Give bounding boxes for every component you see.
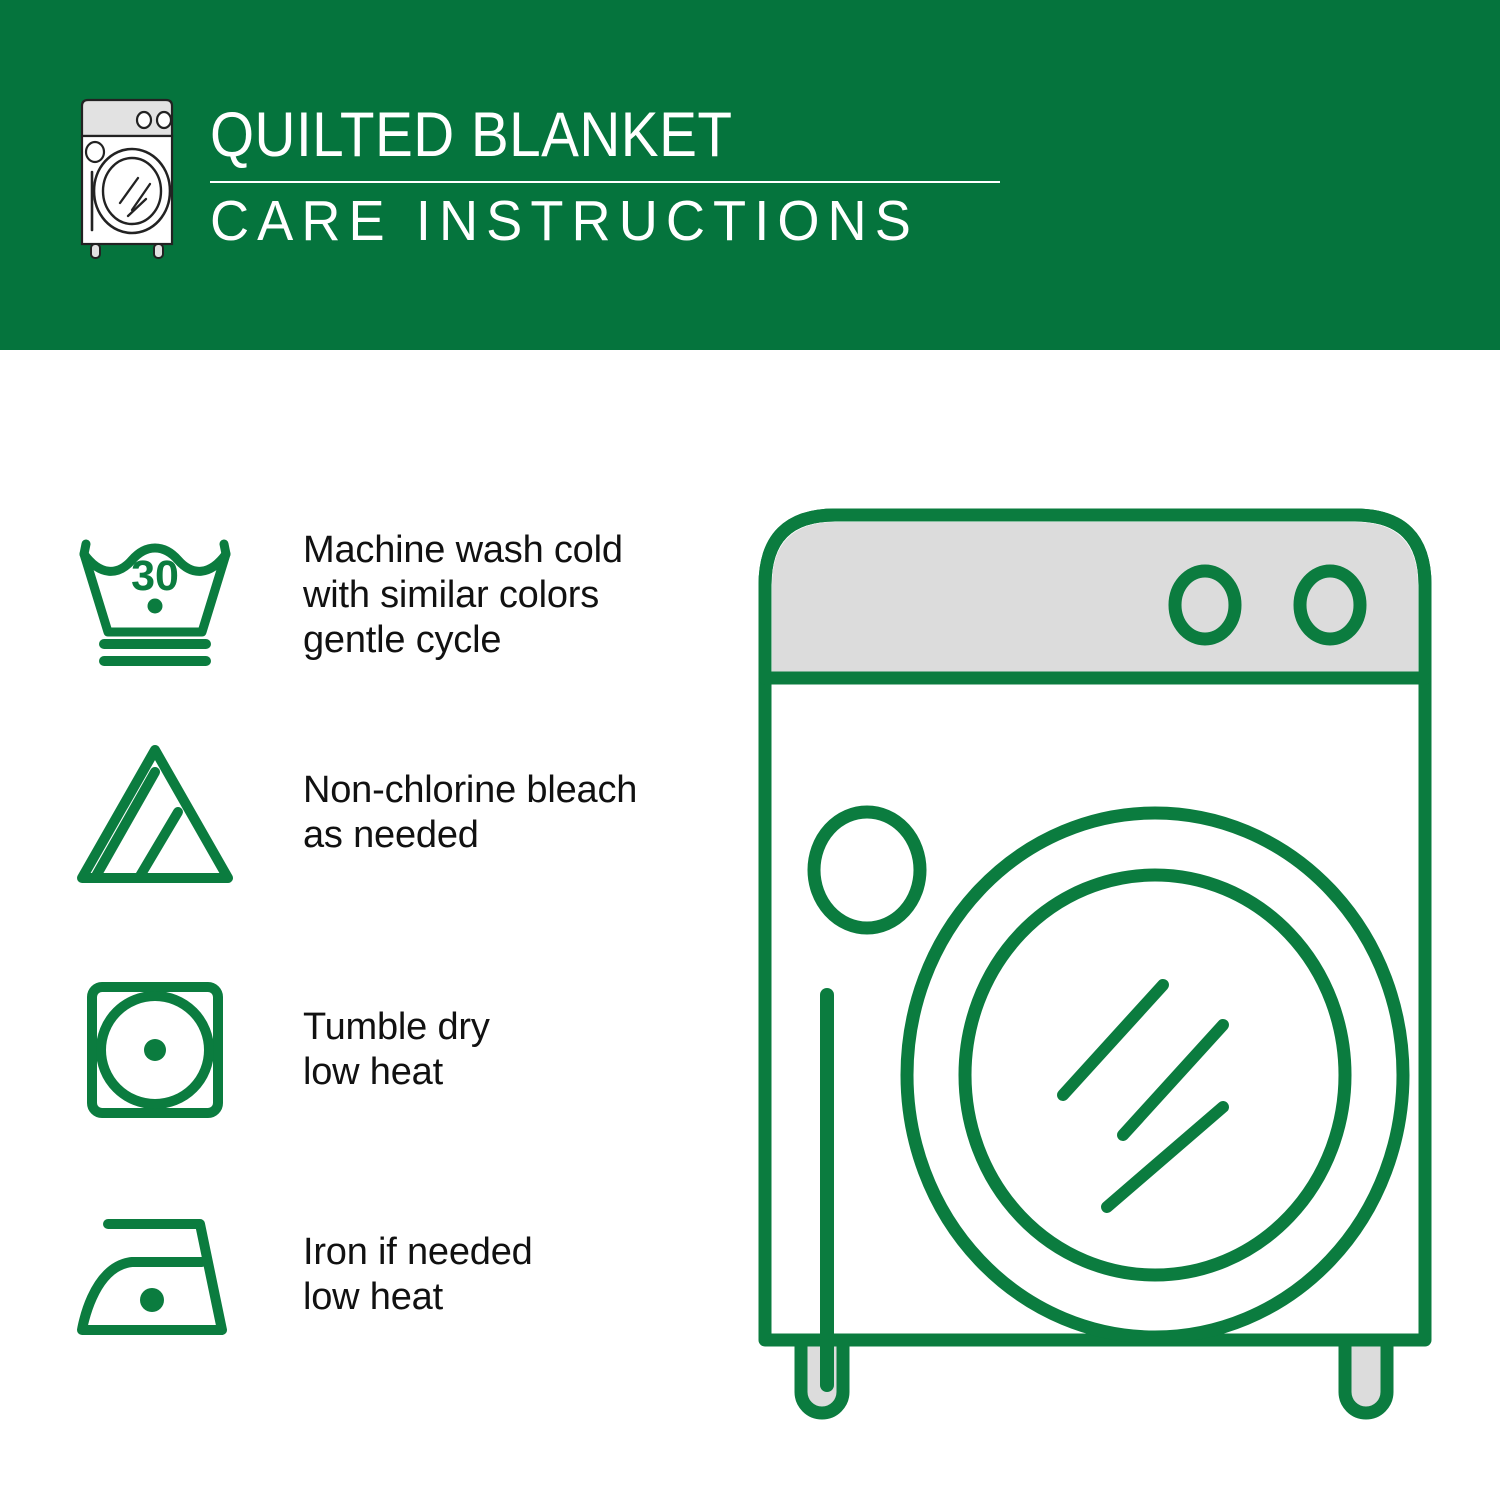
care-instruction-text: Non-chlorine bleach as needed	[240, 768, 710, 858]
washer-dispenser-circle	[814, 812, 920, 928]
care-text-line: Iron if needed	[303, 1230, 710, 1275]
care-text-line: gentle cycle	[303, 618, 710, 663]
header-banner: QUILTED BLANKET CARE INSTRUCTIONS	[0, 0, 1500, 350]
care-text-line: Tumble dry	[303, 1005, 710, 1050]
non-chlorine-bleach-triangle-icon	[70, 738, 240, 888]
care-text-line: Non-chlorine bleach	[303, 768, 710, 813]
care-text-line: as needed	[303, 813, 710, 858]
title-divider	[210, 181, 1000, 183]
iron-low-heat-icon	[70, 1200, 240, 1350]
wash-temperature-value: 30	[131, 552, 179, 600]
page-title: QUILTED BLANKET	[210, 100, 977, 170]
care-instruction-item: Iron if needed low heat	[70, 1200, 710, 1350]
washer-knob	[1300, 571, 1360, 639]
tumble-dry-low-icon	[70, 975, 240, 1125]
page-subtitle: CARE INSTRUCTIONS	[210, 189, 1019, 253]
washing-machine-icon	[62, 98, 192, 266]
care-text-line: with similar colors	[303, 573, 710, 618]
washer-knob	[1175, 571, 1235, 639]
washer-leg	[1345, 1340, 1387, 1413]
content-area: 30 Machine wash cold with similar colors…	[0, 350, 1500, 1500]
wash-tub-30-gentle-icon: 30	[70, 520, 240, 670]
care-instruction-text: Machine wash cold with similar colors ge…	[240, 528, 710, 663]
care-text-line: low heat	[303, 1050, 710, 1095]
washer-door-inner	[965, 875, 1345, 1275]
care-instruction-item: Tumble dry low heat	[70, 970, 710, 1130]
care-instruction-text: Tumble dry low heat	[240, 1005, 710, 1095]
care-instruction-text: Iron if needed low heat	[240, 1230, 710, 1320]
header-content: QUILTED BLANKET CARE INSTRUCTIONS	[62, 98, 1062, 273]
care-text-line: low heat	[303, 1275, 710, 1320]
care-instruction-item: Non-chlorine bleach as needed	[70, 733, 710, 893]
front-load-washing-machine-illustration	[745, 495, 1465, 1435]
care-instruction-item: 30 Machine wash cold with similar colors…	[70, 515, 710, 675]
care-text-line: Machine wash cold	[303, 528, 710, 573]
header-title-block: QUILTED BLANKET CARE INSTRUCTIONS	[210, 98, 1062, 253]
